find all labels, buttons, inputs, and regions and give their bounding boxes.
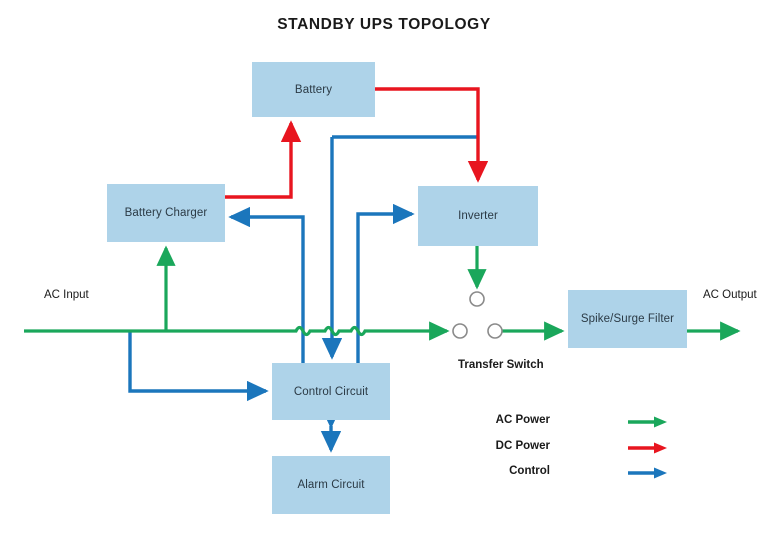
conn-ac-line-to-control-circuit — [130, 331, 266, 391]
legend-dc-power-label: DC Power — [496, 440, 550, 452]
label-ac-input: AC Input — [44, 289, 89, 301]
node-battery-label: Battery — [295, 84, 332, 96]
node-spike-surge-filter[interactable]: Spike/Surge Filter — [568, 290, 687, 348]
node-alarm-circuit-label: Alarm Circuit — [297, 479, 364, 491]
conn-control-to-battery-charger — [231, 217, 303, 363]
legend-item-control: Control — [540, 465, 680, 481]
legend-item-dc-power: DC Power — [540, 440, 680, 456]
legend-control-label: Control — [509, 465, 550, 477]
node-alarm-circuit[interactable]: Alarm Circuit — [272, 456, 390, 514]
legend-dc-power-arrow — [628, 441, 668, 455]
node-control-circuit-label: Control Circuit — [294, 386, 368, 398]
node-battery-charger[interactable]: Battery Charger — [107, 184, 225, 242]
node-battery[interactable]: Battery — [252, 62, 375, 117]
legend-control-arrow — [628, 466, 668, 480]
conn-control-to-inverter — [358, 214, 412, 363]
diagram-canvas: STANDBY UPS TOPOLOGY — [0, 0, 768, 548]
conn-ac-input-main-line — [24, 328, 447, 335]
switch-contact-right[interactable] — [488, 324, 502, 338]
legend-item-ac-power: AC Power — [540, 414, 680, 430]
label-transfer-switch: Transfer Switch — [458, 359, 544, 371]
legend-ac-power-arrow — [628, 415, 668, 429]
node-control-circuit[interactable]: Control Circuit — [272, 363, 390, 420]
switch-contact-inverter[interactable] — [470, 292, 484, 306]
node-battery-charger-label: Battery Charger — [125, 207, 208, 219]
label-ac-output: AC Output — [703, 289, 757, 301]
node-inverter[interactable]: Inverter — [418, 186, 538, 246]
legend-ac-power-label: AC Power — [496, 414, 550, 426]
switch-contact-left[interactable] — [453, 324, 467, 338]
conn-battery-to-inverter — [375, 89, 478, 180]
conn-battery-charger-to-battery — [225, 123, 291, 197]
node-spike-surge-filter-label: Spike/Surge Filter — [581, 313, 674, 325]
node-inverter-label: Inverter — [458, 210, 498, 222]
